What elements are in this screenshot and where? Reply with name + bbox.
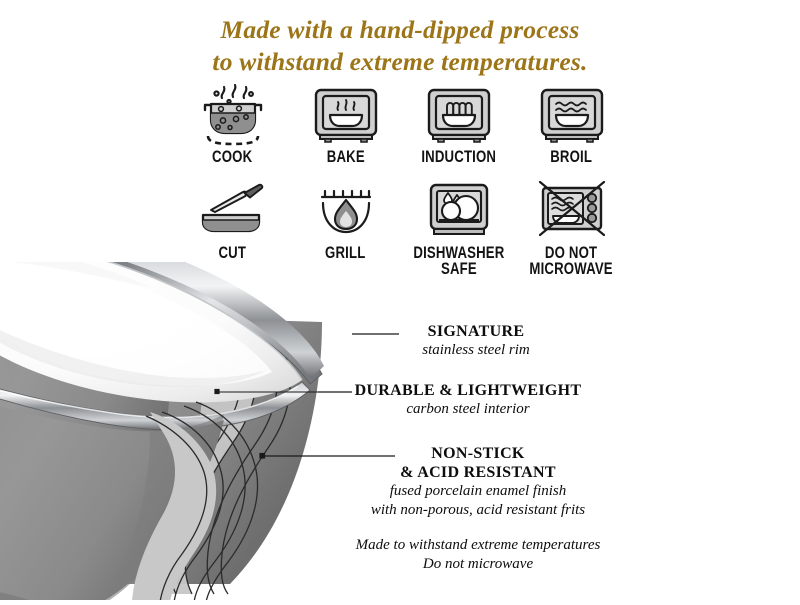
callout-note-line-2: Do not microwave [328,555,628,574]
callout-nonstick-sub: fused porcelain enamel finish with non-p… [328,482,628,520]
callout-durable-sub: carbon steel interior [338,400,598,419]
callout-durable: DURABLE & LIGHTWEIGHT carbon steel inter… [338,381,598,419]
callout-nonstick: NON-STICK & ACID RESISTANT fused porcela… [328,444,628,520]
callout-note: Made to withstand extreme temperatures D… [328,536,628,574]
callout-durable-heading: DURABLE & LIGHTWEIGHT [338,381,598,400]
leader-dot-durable [215,390,219,394]
leader-dot-nonstick [260,454,265,459]
callout-signature: SIGNATURE stainless steel rim [386,322,566,360]
callout-signature-heading: SIGNATURE [386,322,566,341]
callout-note-line-1: Made to withstand extreme temperatures [328,536,628,555]
callout-nonstick-heading: NON-STICK & ACID RESISTANT [328,444,628,482]
callout-signature-sub: stainless steel rim [386,341,566,360]
product-feature-infographic: Made with a hand-dipped process to withs… [0,0,800,600]
